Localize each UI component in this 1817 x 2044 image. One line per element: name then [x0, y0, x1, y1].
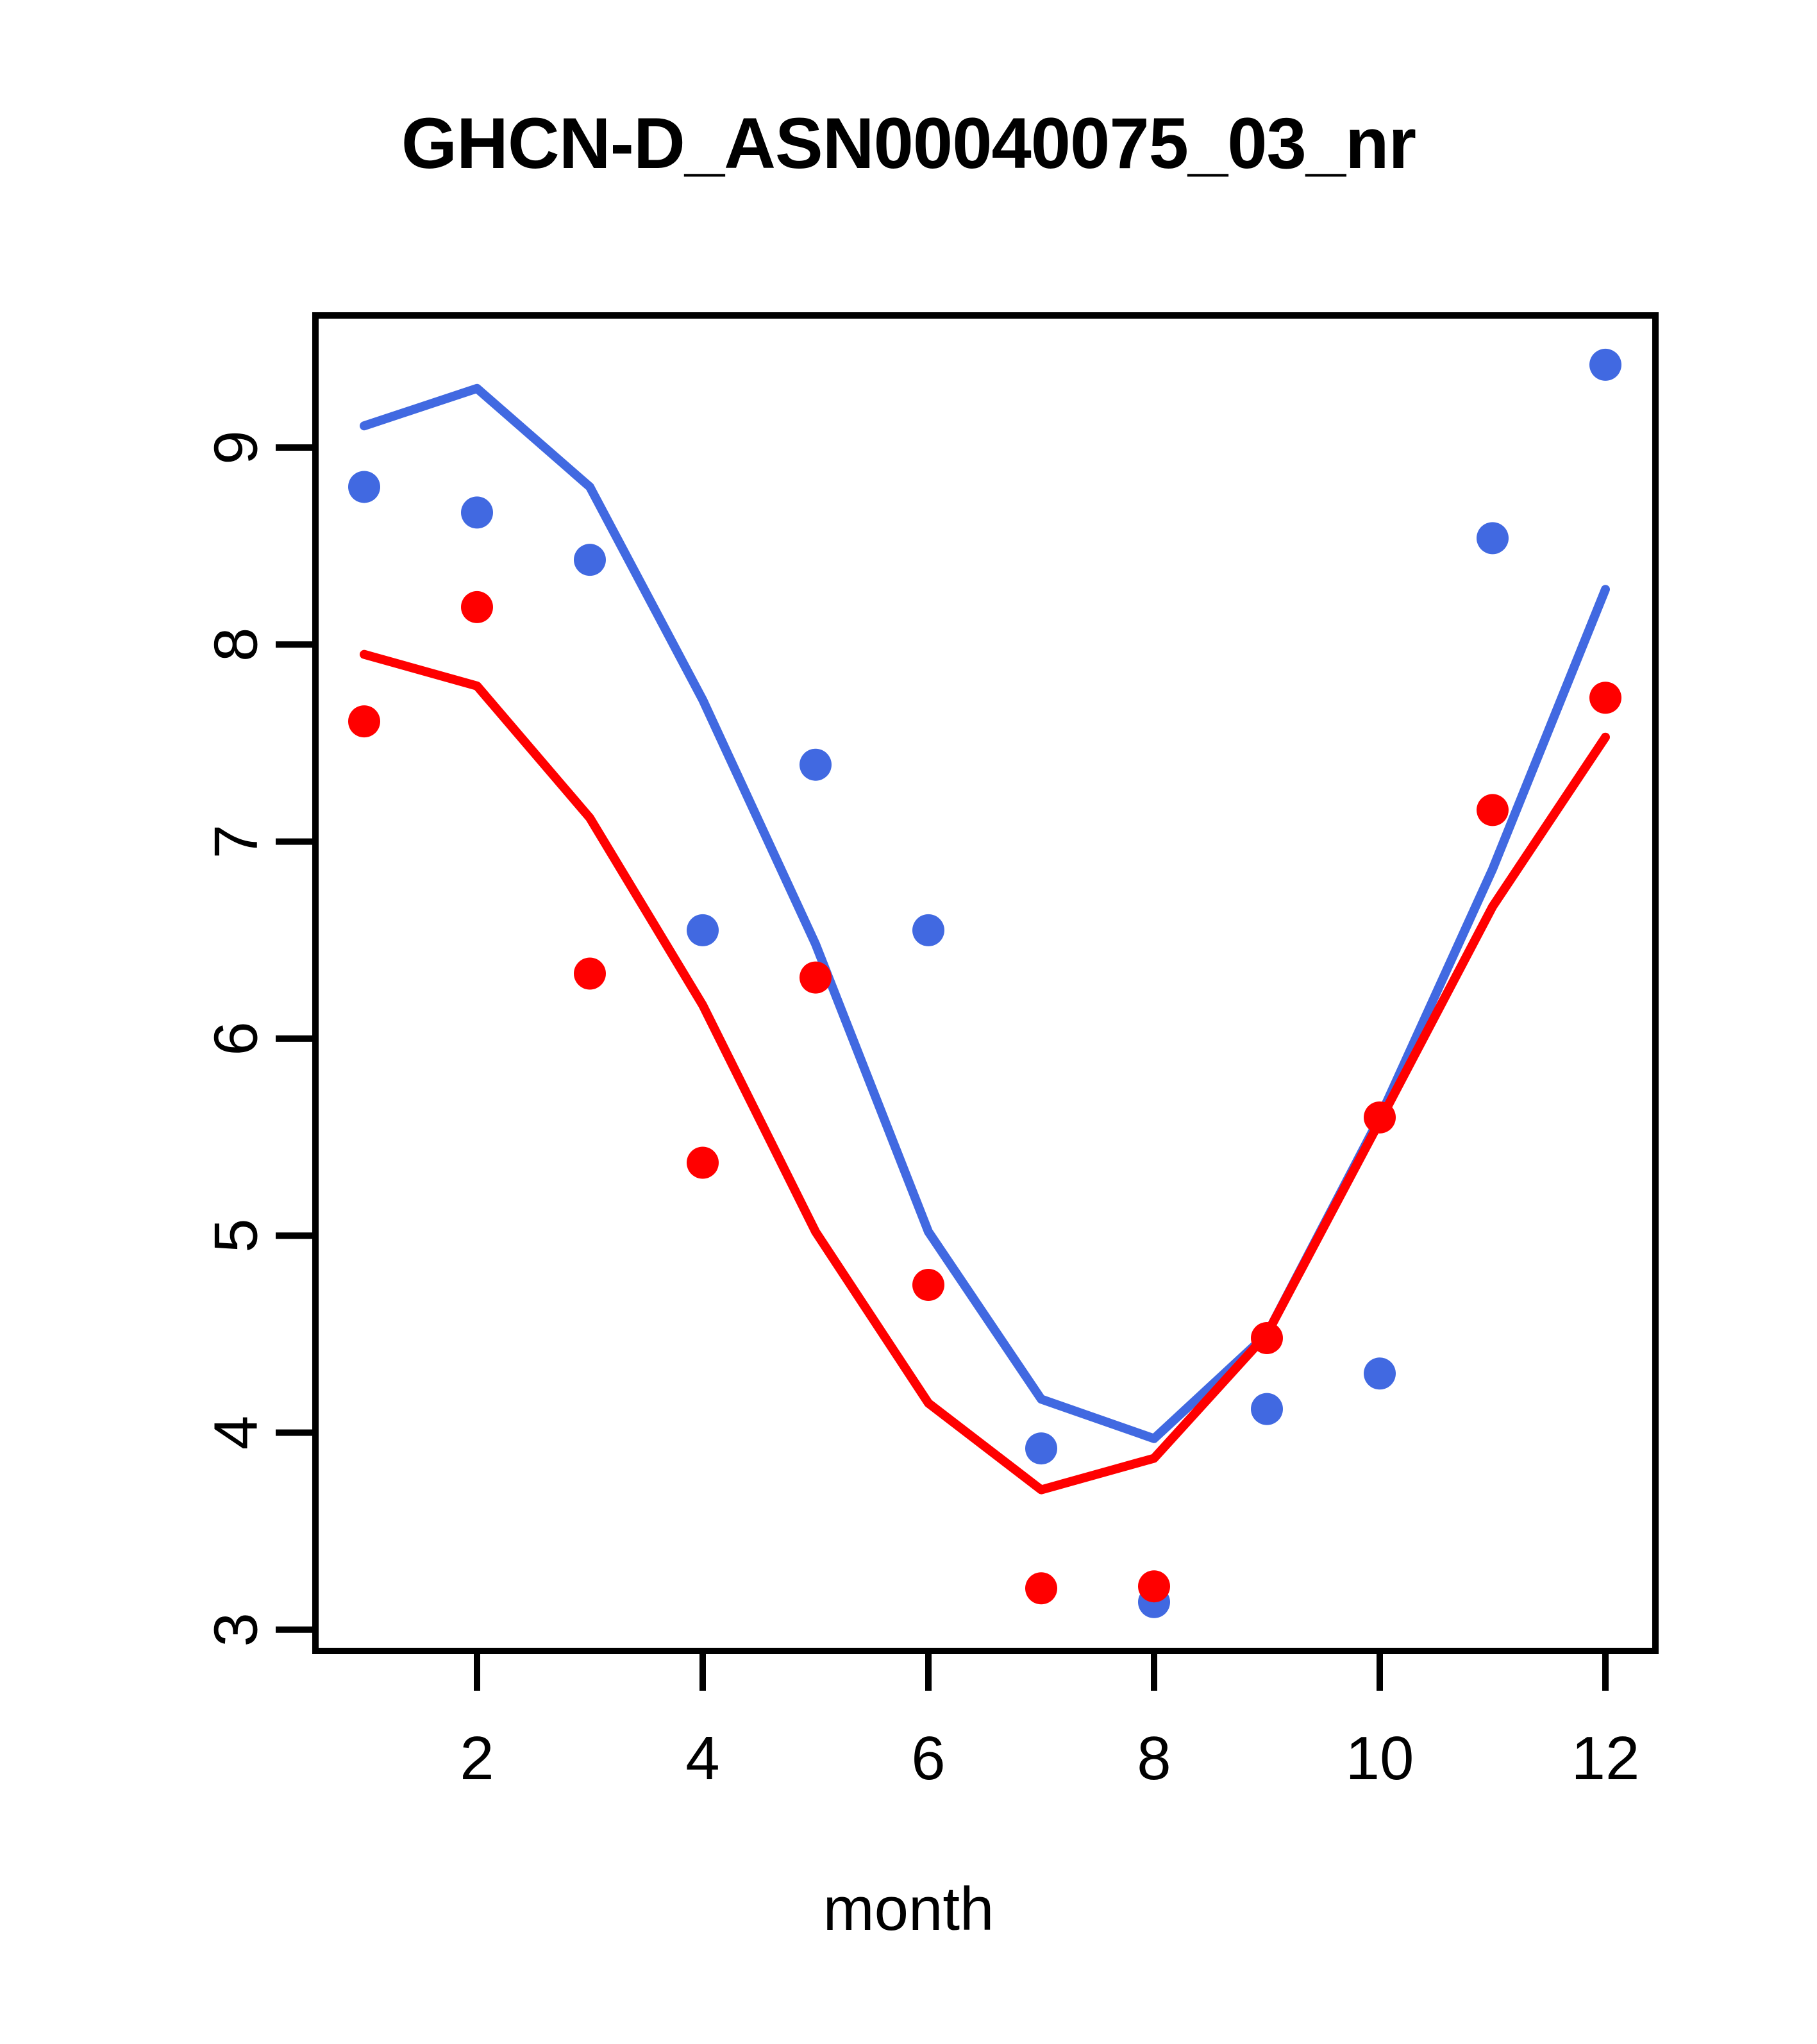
red-points-marker — [1477, 794, 1509, 826]
y-tick-label: 3 — [202, 1613, 271, 1646]
y-axis-tick-labels: 3456789 — [202, 430, 271, 1646]
x-tick-label: 4 — [685, 1724, 719, 1793]
y-tick-label: 8 — [202, 628, 271, 662]
red-points-marker — [574, 957, 606, 989]
x-axis-tick-labels: 24681012 — [460, 1724, 1639, 1793]
y-tick-label: 9 — [202, 430, 271, 464]
red-points-marker — [912, 1269, 944, 1301]
blue-points-marker — [461, 496, 493, 528]
blue-points-marker — [1589, 349, 1621, 381]
x-axis-ticks — [477, 1651, 1605, 1691]
series-points — [348, 349, 1621, 1618]
plot-area: 3456789 24681012 — [0, 0, 1817, 2044]
x-tick-label: 2 — [460, 1724, 494, 1793]
red-points-marker — [687, 1146, 719, 1178]
blue-points-marker — [348, 471, 380, 503]
red-points-marker — [800, 962, 832, 994]
red-points-marker — [1364, 1102, 1396, 1134]
blue-points-marker — [1251, 1393, 1283, 1425]
y-tick-label: 5 — [202, 1219, 271, 1253]
blue-points-marker — [912, 914, 944, 946]
x-tick-label: 6 — [911, 1724, 945, 1793]
y-axis-ticks — [276, 448, 315, 1630]
x-axis-label: month — [0, 1879, 1817, 1940]
series-lines — [364, 389, 1605, 1490]
x-tick-label: 8 — [1137, 1724, 1171, 1793]
blue-points-marker — [1364, 1357, 1396, 1389]
red-points-marker — [1589, 682, 1621, 714]
blue-points-marker — [1025, 1432, 1057, 1464]
blue-points-marker — [800, 749, 832, 781]
blue-points-marker — [574, 544, 606, 576]
red-points-marker — [461, 591, 493, 623]
red-points-marker — [348, 705, 380, 737]
y-tick-label: 4 — [202, 1416, 271, 1450]
red-points-marker — [1025, 1572, 1057, 1604]
blue-line — [364, 389, 1605, 1439]
red-points-marker — [1251, 1322, 1283, 1354]
blue-points-marker — [687, 914, 719, 946]
chart-figure: GHCN-D_ASN00040075_03_nr 3456789 2468101… — [0, 0, 1817, 2044]
x-tick-label: 12 — [1571, 1724, 1640, 1793]
blue-points-marker — [1477, 522, 1509, 554]
red-line — [364, 655, 1605, 1490]
red-points-marker — [1138, 1570, 1170, 1602]
y-tick-label: 7 — [202, 825, 271, 859]
x-tick-label: 10 — [1346, 1724, 1414, 1793]
y-tick-label: 6 — [202, 1021, 271, 1055]
